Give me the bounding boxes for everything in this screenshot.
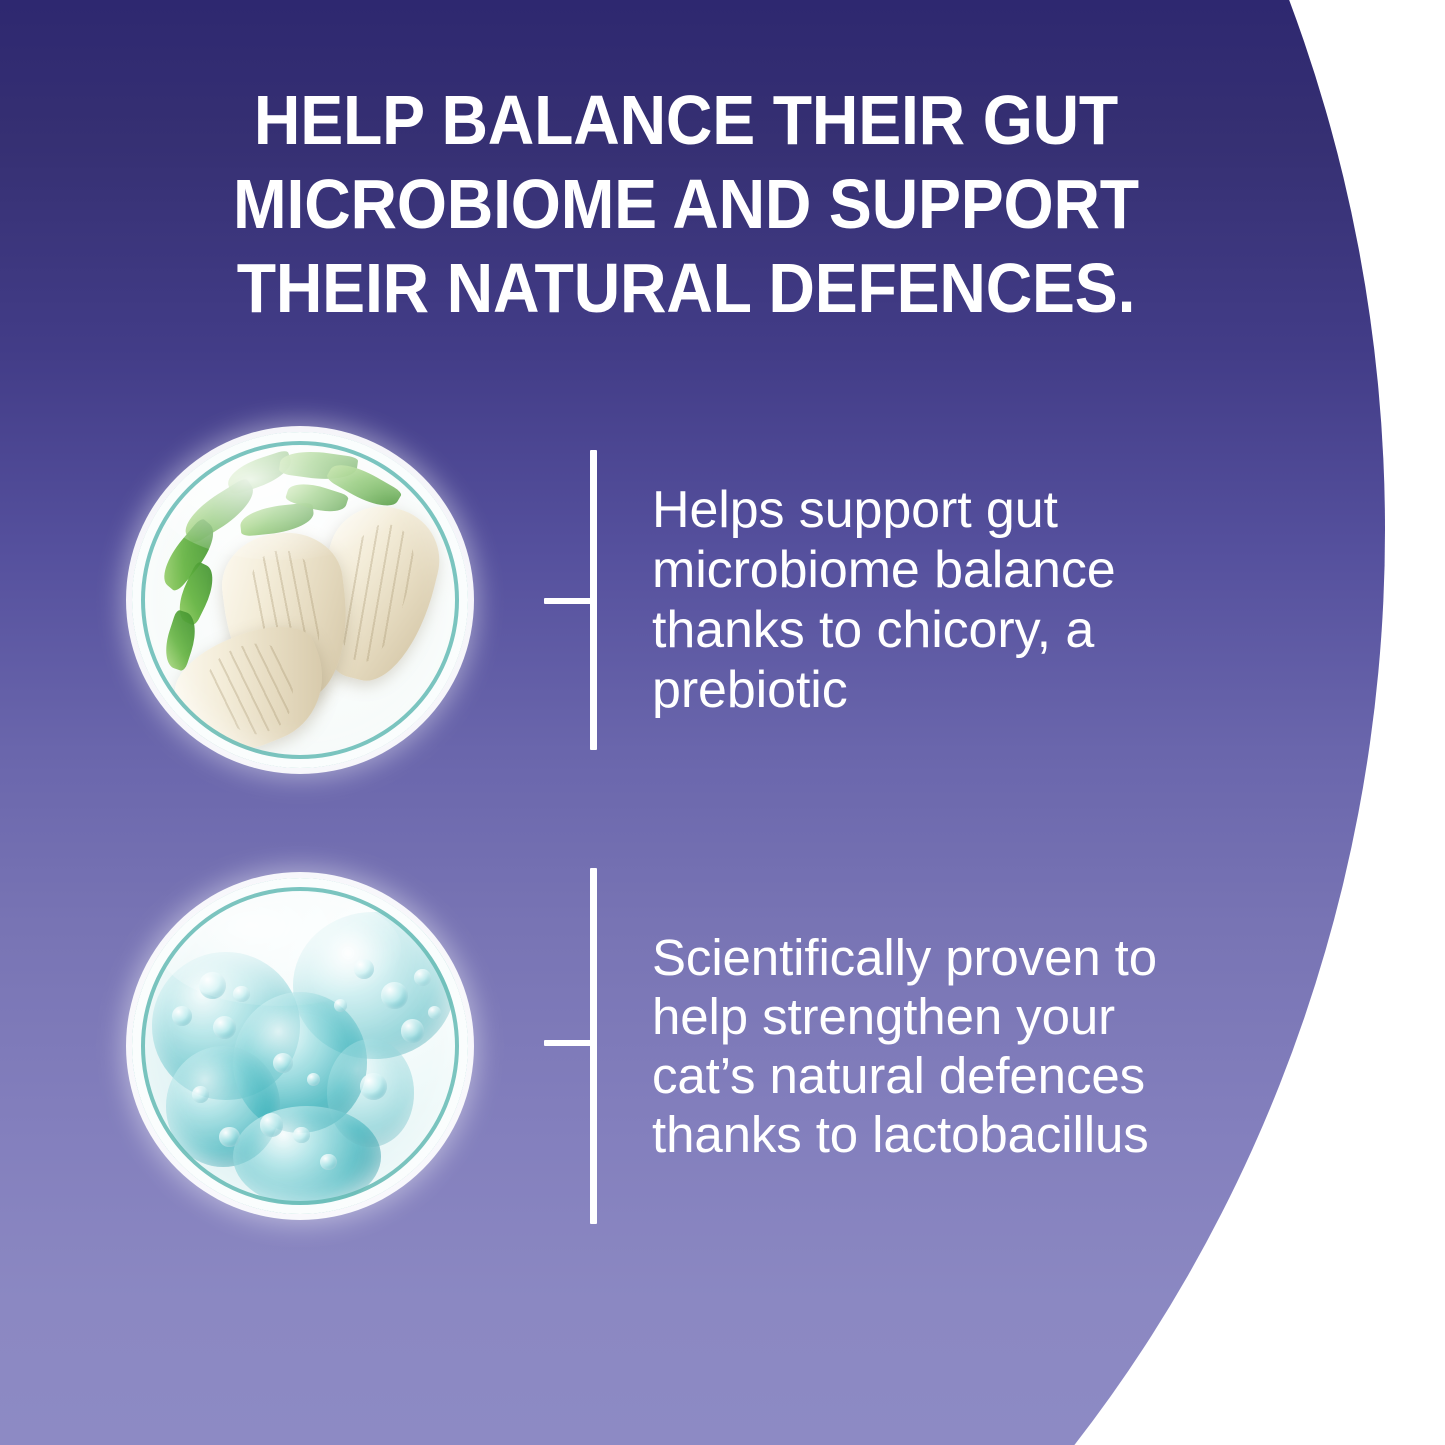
gel-bubble — [233, 986, 250, 1003]
page-title: HELP BALANCE THEIR GUT MICROBIOME AND SU… — [143, 78, 1229, 330]
divider-horizontal-tick — [544, 598, 596, 604]
feature-text-lactobacillus: Scientifically proven to help strengthen… — [652, 928, 1227, 1164]
gel-bubble — [320, 1154, 337, 1171]
feature-text-chicory: Helps support gut microbiome balance tha… — [652, 480, 1222, 720]
divider-horizontal-tick — [544, 1040, 596, 1046]
gel-bubble — [219, 1127, 239, 1147]
divider-vertical-line — [590, 868, 597, 1224]
infographic-canvas: HELP BALANCE THEIR GUT MICROBIOME AND SU… — [0, 0, 1445, 1445]
petri-dish-lactobacillus-gel-image — [132, 878, 468, 1214]
chicory-scene — [132, 432, 468, 768]
gel-bubble — [381, 982, 408, 1009]
feature-divider-chicory — [544, 450, 608, 750]
petri-dish-chicory-roots-image — [132, 432, 468, 768]
chicory-leaf-icon — [238, 502, 314, 536]
lactobacillus-gel-scene — [132, 878, 468, 1214]
feature-divider-lactobacillus — [544, 868, 608, 1224]
gel-bubble — [273, 1053, 293, 1073]
gel-bubble — [354, 959, 374, 979]
gel-bubble — [360, 1073, 387, 1100]
gel-bubble — [260, 1113, 284, 1137]
feature-row-chicory-prebiotic: Helps support gut microbiome balance tha… — [132, 432, 1222, 768]
gel-bubble — [401, 1019, 425, 1043]
gel-bubble — [199, 972, 226, 999]
gel-bubble — [414, 969, 431, 986]
feature-row-lactobacillus-defences: Scientifically proven to help strengthen… — [132, 868, 1227, 1224]
gel-bubble — [428, 1006, 441, 1019]
